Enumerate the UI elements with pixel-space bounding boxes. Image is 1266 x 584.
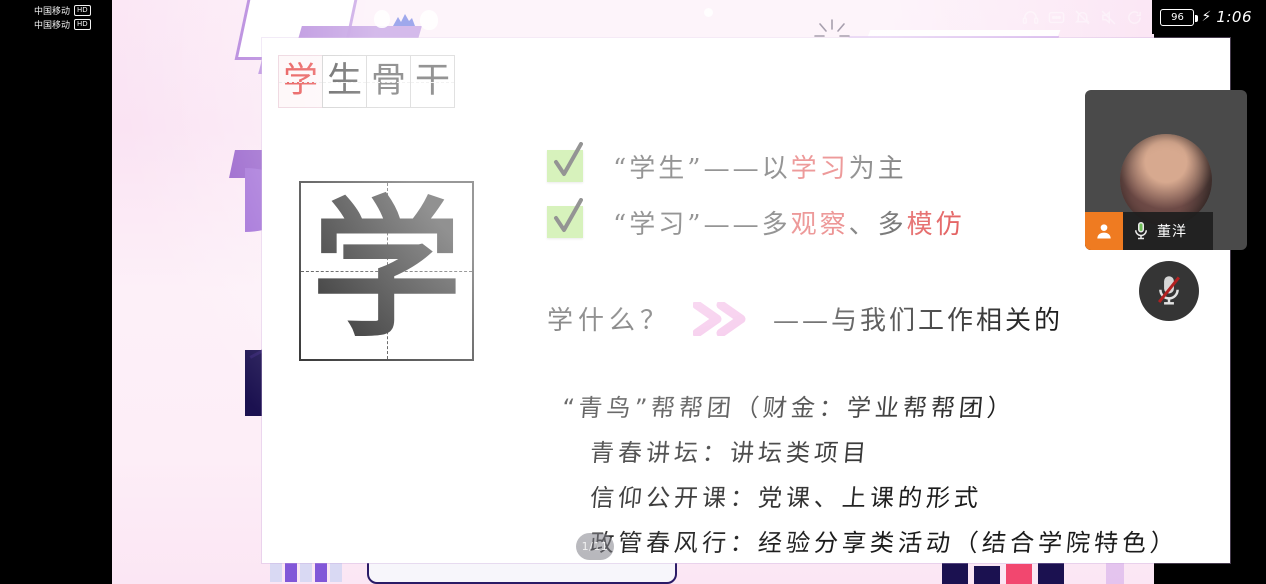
message-icon <box>1048 9 1065 26</box>
crescent-deco <box>245 168 291 232</box>
page-title: 学 生 骨 干 <box>279 55 455 108</box>
mic-on-icon[interactable] <box>1132 221 1150 241</box>
handwritten-line: 政管春风行：经验分享类活动（结合学院特色） <box>560 521 1180 563</box>
title-char-cell: 干 <box>410 55 455 108</box>
question-prompt: 学什么？ <box>547 300 671 337</box>
presentation-background: v ◡ v 学 生 骨 干 学 <box>112 0 1154 584</box>
hd-badge: HD <box>74 5 91 16</box>
handwritten-notes: “青鸟”帮帮团（财金：学业帮帮团） 青春讲坛：讲坛类项目 信仰公开课：党课、上课… <box>562 386 1178 563</box>
double-chevron-right-icon <box>693 302 751 336</box>
clock: 1:06 <box>1216 8 1252 26</box>
question-answer: ——与我们工作相关的 <box>773 300 1063 337</box>
participant-footer: 董洋 <box>1085 212 1213 250</box>
sync-icon <box>1126 9 1143 26</box>
participant-video-tile[interactable]: 董洋 <box>1085 90 1247 250</box>
bar-chart-deco <box>270 542 346 582</box>
arrow-deco <box>245 350 265 416</box>
strip-deco <box>1106 464 1124 584</box>
bullet-text: “学习”——多观察、多模仿 <box>613 204 965 241</box>
handwritten-line: 青春讲坛：讲坛类项目 <box>560 431 1180 476</box>
status-bar: 中国移动 HD 中国移动 HD <box>0 0 1266 34</box>
big-character: 学 <box>301 183 472 359</box>
bullet-segment: 为主 <box>849 154 907 184</box>
ribbon-deco <box>839 36 1060 62</box>
bullet-text: “学生”——以学习为主 <box>613 148 907 185</box>
ribbon-deco <box>258 44 355 74</box>
arrow-deco <box>250 342 285 372</box>
handwritten-line: “青鸟”帮帮团（财金：学业帮帮团） <box>560 386 1180 431</box>
bullet-segment: “学习”——多 <box>613 210 791 240</box>
carrier-row: 中国移动 HD <box>34 4 112 17</box>
bolt-icon: ⚡ <box>1201 9 1211 25</box>
ribbon-deco <box>229 150 315 178</box>
title-char-cell: 生 <box>322 55 367 108</box>
ribbon-deco <box>285 58 439 74</box>
bullet-segment: “学生”——以 <box>613 154 791 184</box>
character-practice-grid: 学 <box>299 181 474 361</box>
battery-icon: 96 <box>1160 9 1194 26</box>
bullet-segment: 、多 <box>849 210 907 240</box>
battery-percent: 96 <box>1171 12 1184 23</box>
bullet-segment-highlight: 观察 <box>791 210 849 240</box>
mute-bell-icon <box>1074 9 1091 26</box>
bullet-segment-highlight: 模仿 <box>907 210 965 240</box>
battery-indicator: 96 ⚡ 1:06 <box>1152 0 1256 34</box>
hd-badge: HD <box>74 19 91 30</box>
grid-horizontal-line <box>301 271 472 272</box>
participant-name: 董洋 <box>1157 221 1187 241</box>
bullet-segment-highlight: 学习 <box>791 154 849 184</box>
page-indicator[interactable]: 1/11 <box>576 533 614 560</box>
silent-icon <box>1100 9 1117 26</box>
carrier-label: 中国移动 <box>34 18 70 31</box>
green-check-icon <box>547 206 583 238</box>
person-icon <box>1085 212 1123 250</box>
grid-vertical-line <box>387 183 388 359</box>
headset-icon <box>1022 9 1039 26</box>
status-icons: 96 ⚡ 1:06 <box>1022 0 1266 34</box>
carrier-label: 中国移动 <box>34 4 70 17</box>
handwritten-line: 信仰公开课：党课、上课的形式 <box>560 476 1180 521</box>
bar-chart-deco <box>942 548 1102 584</box>
carrier-row: 中国移动 HD <box>34 18 112 31</box>
carrier-area: 中国移动 HD 中国移动 HD <box>0 0 112 34</box>
title-char-cell: 学 <box>278 55 323 108</box>
phone-screen: v ◡ v 学 生 骨 干 学 <box>0 0 1266 584</box>
mic-muted-icon[interactable] <box>1139 261 1199 321</box>
title-char-cell: 骨 <box>366 55 411 108</box>
rounded-rect-deco: v ◡ v <box>367 538 677 584</box>
green-check-icon <box>547 150 583 182</box>
question-line: 学什么？ ——与我们工作相关的 <box>547 300 1063 337</box>
